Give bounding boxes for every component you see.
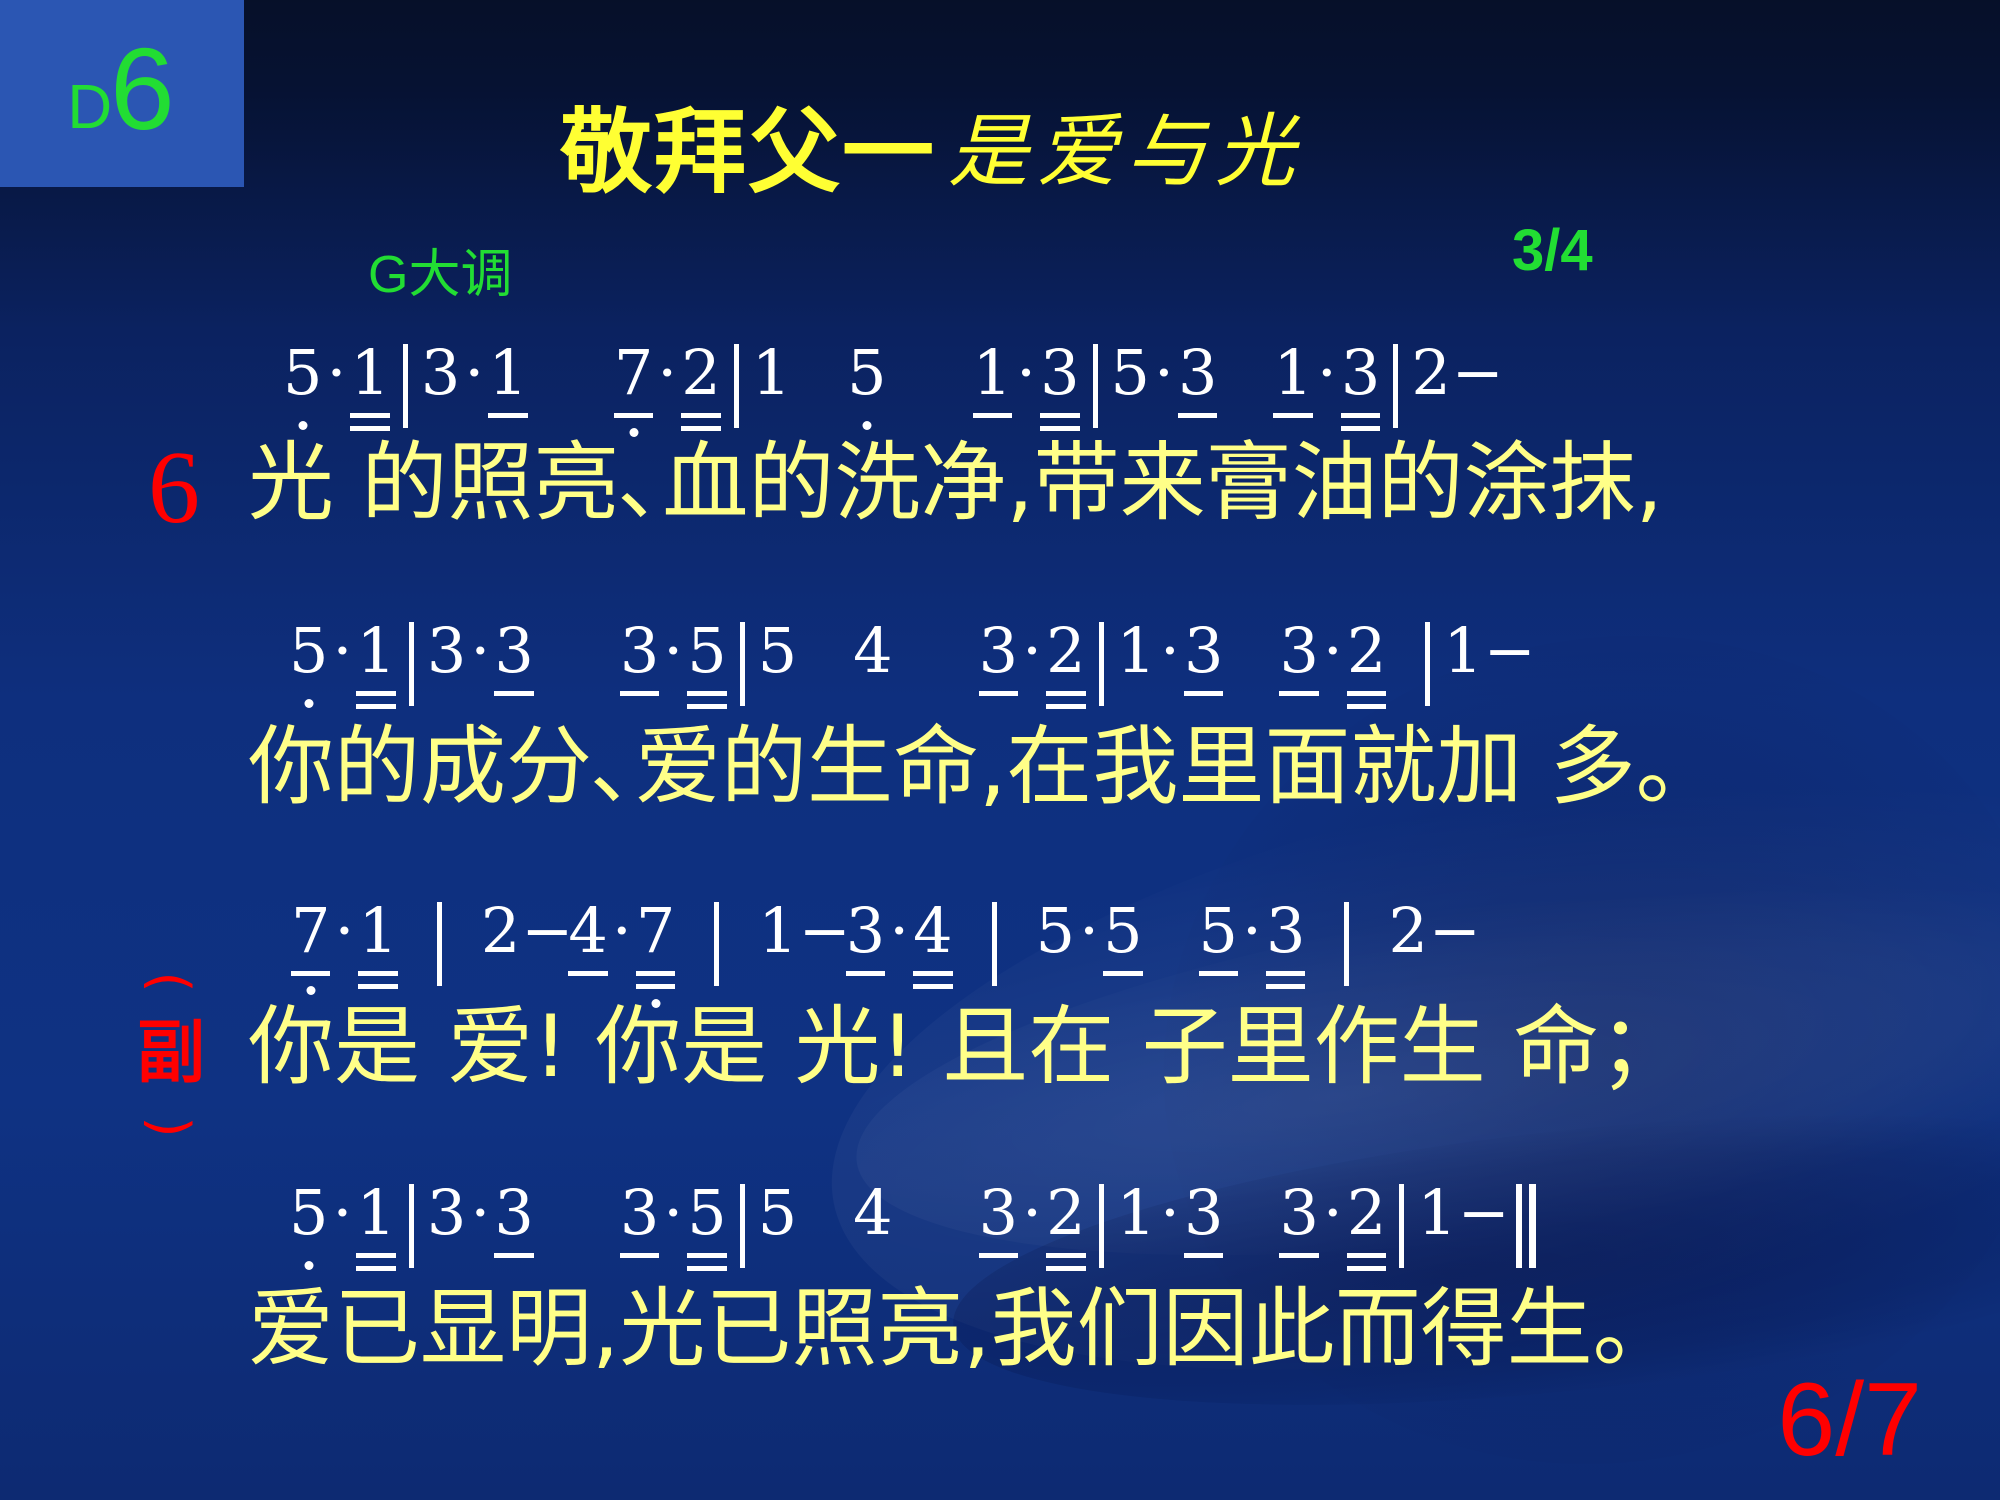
note: 5 — [288, 1182, 329, 1244]
augmentation-dot: · — [1314, 342, 1340, 404]
title-sub: 是爱与光 — [948, 105, 1304, 198]
note: 5 — [282, 342, 323, 404]
note: 2 — [1346, 1182, 1387, 1244]
note-extender: − — [1458, 1182, 1504, 1244]
augmentation-dot: · — [1151, 342, 1177, 404]
chorus-label: 副 — [128, 1023, 214, 1086]
barline — [1344, 902, 1349, 986]
note: 3 — [619, 620, 660, 682]
note: 3 — [1278, 1182, 1319, 1244]
note: 5 — [288, 620, 329, 682]
note: 3 — [1039, 342, 1080, 404]
note: 3 — [426, 620, 467, 682]
barline — [740, 622, 745, 706]
augmentation-dot: · — [323, 342, 349, 404]
note: 1 — [355, 620, 396, 682]
note: 1 — [357, 900, 398, 962]
augmentation-dot: · — [1076, 900, 1102, 962]
note: 3 — [1265, 900, 1306, 962]
note: 4 — [852, 620, 893, 682]
note: 4 — [852, 1182, 893, 1244]
note: 3 — [1278, 620, 1319, 682]
page-title: 敬拜父一是爱与光 — [560, 78, 1304, 211]
note: 5 — [846, 342, 887, 404]
note: 2 — [1045, 620, 1086, 682]
final-barline — [1516, 1184, 1536, 1268]
note: 1 — [355, 1182, 396, 1244]
augmentation-dot: · — [1013, 342, 1039, 404]
augmentation-dot: · — [654, 342, 680, 404]
staff-line-2: 5 · 1 3 · 3 3 · 5 5 4 3 · 2 1 · 3 3 · 2 … — [0, 620, 2000, 730]
barline — [1425, 622, 1430, 706]
augmentation-dot: · — [461, 342, 487, 404]
note: 5 — [686, 620, 727, 682]
augmentation-dot: · — [660, 620, 686, 682]
note: 3 — [426, 1182, 467, 1244]
note: 2 — [1410, 342, 1451, 404]
note: 4 — [912, 900, 953, 962]
note: 1 — [751, 342, 792, 404]
note-extender: − — [799, 900, 845, 962]
note: 5 — [1035, 900, 1076, 962]
augmentation-dot: · — [329, 1182, 355, 1244]
barline — [1399, 1184, 1404, 1268]
barline — [1099, 1184, 1104, 1268]
augmentation-dot: · — [609, 900, 635, 962]
note: 1 — [1416, 1182, 1457, 1244]
note: 1 — [487, 342, 528, 404]
augmentation-dot: · — [1019, 620, 1045, 682]
note: 7 — [635, 900, 676, 962]
augmentation-dot: · — [467, 1182, 493, 1244]
barline — [1393, 344, 1398, 428]
note: 5 — [1110, 342, 1151, 404]
augmentation-dot: · — [329, 620, 355, 682]
note: 3 — [978, 1182, 1019, 1244]
staff-line-3: 7 · 1 2 − 4 · 7 1 − 3 · 4 5 · 5 5 · 3 2 … — [0, 900, 2000, 1010]
barline — [740, 1184, 745, 1268]
badge-number: 6 — [110, 37, 175, 141]
note: 5 — [686, 1182, 727, 1244]
note: 3 — [619, 1182, 660, 1244]
staff-line-4: 5 · 1 3 · 3 3 · 5 5 4 3 · 2 1 · 3 3 · 2 … — [0, 1182, 2000, 1292]
barline — [992, 902, 997, 986]
lyric-line-3: 你是 爱! 你是 光! 且在 子里作生 命； — [248, 1004, 1685, 1090]
note: 1 — [1442, 620, 1483, 682]
note-extender: − — [1484, 620, 1530, 682]
augmentation-dot: · — [1239, 900, 1265, 962]
augmentation-dot: · — [1320, 1182, 1346, 1244]
lyric-line-4: 爱已显明,光已照亮,我们因此而得生。 — [248, 1286, 1679, 1372]
note: 3 — [1177, 342, 1218, 404]
note: 5 — [757, 620, 798, 682]
note: 3 — [493, 1182, 534, 1244]
hymn-badge: D6 — [0, 0, 244, 187]
lyric-line-1: 光 的照亮､血的洗净,带来膏油的涂抹, — [248, 440, 1663, 526]
note: 7 — [290, 900, 331, 962]
badge-letter: D — [67, 80, 112, 136]
augmentation-dot: · — [1320, 620, 1346, 682]
note: 5 — [1198, 900, 1239, 962]
note: 3 — [1183, 1182, 1224, 1244]
note: 1 — [1272, 342, 1313, 404]
note: 1 — [757, 900, 798, 962]
barline — [734, 344, 739, 428]
note: 2 — [480, 900, 521, 962]
augmentation-dot: · — [886, 900, 912, 962]
augmentation-dot: · — [331, 900, 357, 962]
page-number: 6/7 — [1777, 1368, 1922, 1472]
augmentation-dot: · — [467, 620, 493, 682]
augmentation-dot: · — [1157, 1182, 1183, 1244]
note: 2 — [1387, 900, 1428, 962]
augmentation-dot: · — [1019, 1182, 1045, 1244]
barline — [409, 622, 414, 706]
barline — [437, 902, 442, 986]
note: 7 — [613, 342, 654, 404]
note: 1 — [972, 342, 1013, 404]
note-extender: − — [1429, 900, 1475, 962]
note: 2 — [1045, 1182, 1086, 1244]
note-extender: − — [1452, 342, 1498, 404]
chorus-paren-close: ) — [140, 1084, 194, 1170]
note: 4 — [567, 900, 608, 962]
note: 1 — [349, 342, 390, 404]
barline — [403, 344, 408, 428]
time-signature: 3/4 — [1512, 217, 1593, 284]
note: 3 — [1183, 620, 1224, 682]
slide-canvas: D6 敬拜父一是爱与光 G大调 3/4 6 ( 副 ) 5 · 1 3 · 1 … — [0, 0, 2000, 1500]
note: 2 — [1346, 620, 1387, 682]
note: 5 — [757, 1182, 798, 1244]
note: 1 — [1116, 1182, 1157, 1244]
note: 1 — [1116, 620, 1157, 682]
note-extender: − — [521, 900, 567, 962]
title-main: 敬拜父一 — [560, 99, 936, 206]
lyric-line-2: 你的成分､爱的生命,在我里面就加 多。 — [248, 724, 1722, 810]
note: 3 — [1340, 342, 1381, 404]
barline — [714, 902, 719, 986]
note: 5 — [1102, 900, 1143, 962]
note: 3 — [845, 900, 886, 962]
key-signature: G大调 — [368, 232, 512, 307]
note: 3 — [493, 620, 534, 682]
barline — [1093, 344, 1098, 428]
barline — [409, 1184, 414, 1268]
barline — [1099, 622, 1104, 706]
augmentation-dot: · — [660, 1182, 686, 1244]
augmentation-dot: · — [1157, 620, 1183, 682]
note: 3 — [420, 342, 461, 404]
note: 2 — [680, 342, 721, 404]
note: 3 — [978, 620, 1019, 682]
